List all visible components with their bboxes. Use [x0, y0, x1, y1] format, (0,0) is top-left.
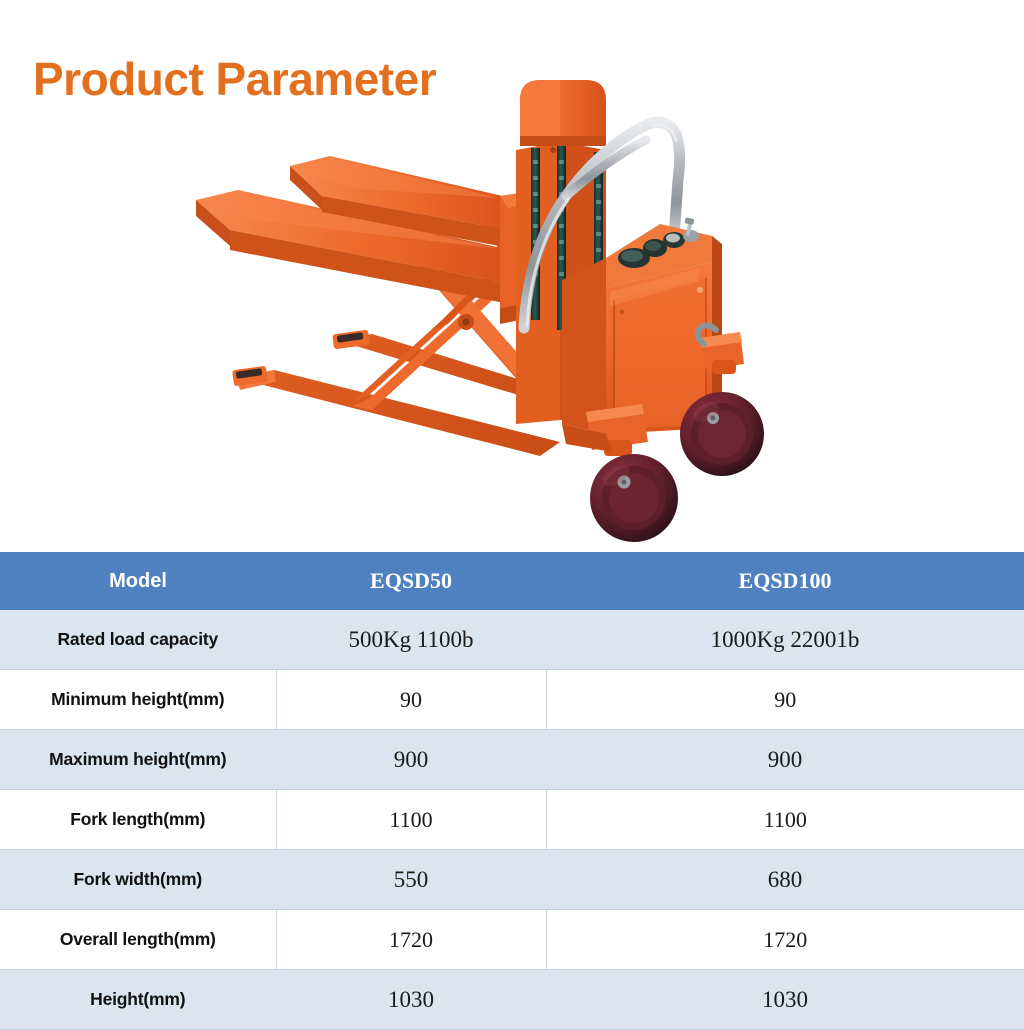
table-header-row: Model EQSD50 EQSD100: [0, 552, 1024, 610]
row-label: Maximum height(mm): [0, 730, 276, 790]
row-label: Fork width(mm): [0, 850, 276, 910]
cell-eqsd100: 90: [546, 670, 1024, 730]
cell-eqsd100: 680: [546, 850, 1024, 910]
cell-eqsd100: 900: [546, 730, 1024, 790]
table-body: Rated load capacity500Kg 1100b1000Kg 220…: [0, 610, 1024, 1030]
row-label: Overall length(mm): [0, 910, 276, 970]
cell-eqsd50: 1720: [276, 910, 546, 970]
row-label: Minimum height(mm): [0, 670, 276, 730]
table-row: Rated load capacity500Kg 1100b1000Kg 220…: [0, 610, 1024, 670]
row-label: Height(mm): [0, 970, 276, 1030]
header-eqsd100: EQSD100: [546, 552, 1024, 610]
table-row: Maximum height(mm)900900: [0, 730, 1024, 790]
row-label: Rated load capacity: [0, 610, 276, 670]
cell-eqsd50: 500Kg 1100b: [276, 610, 546, 670]
cell-eqsd100: 1000Kg 22001b: [546, 610, 1024, 670]
cell-eqsd50: 1100: [276, 790, 546, 850]
table-row: Fork length(mm)11001100: [0, 790, 1024, 850]
cell-eqsd100: 1100: [546, 790, 1024, 850]
table-row: Overall length(mm)17201720: [0, 910, 1024, 970]
page-title: Product Parameter: [33, 56, 436, 102]
key-switch: [683, 217, 699, 242]
product-parameter-table: Model EQSD50 EQSD100 Rated load capacity…: [0, 552, 1024, 1030]
table-row: Fork width(mm)550680: [0, 850, 1024, 910]
cell-eqsd50: 550: [276, 850, 546, 910]
cell-eqsd100: 1030: [546, 970, 1024, 1030]
cell-eqsd50: 900: [276, 730, 546, 790]
table-row: Minimum height(mm)9090: [0, 670, 1024, 730]
cell-eqsd50: 90: [276, 670, 546, 730]
table-row: Height(mm)10301030: [0, 970, 1024, 1030]
cell-eqsd100: 1720: [546, 910, 1024, 970]
row-label: Fork length(mm): [0, 790, 276, 850]
header-eqsd50: EQSD50: [276, 552, 546, 610]
header-model: Model: [0, 552, 276, 610]
cell-eqsd50: 1030: [276, 970, 546, 1030]
